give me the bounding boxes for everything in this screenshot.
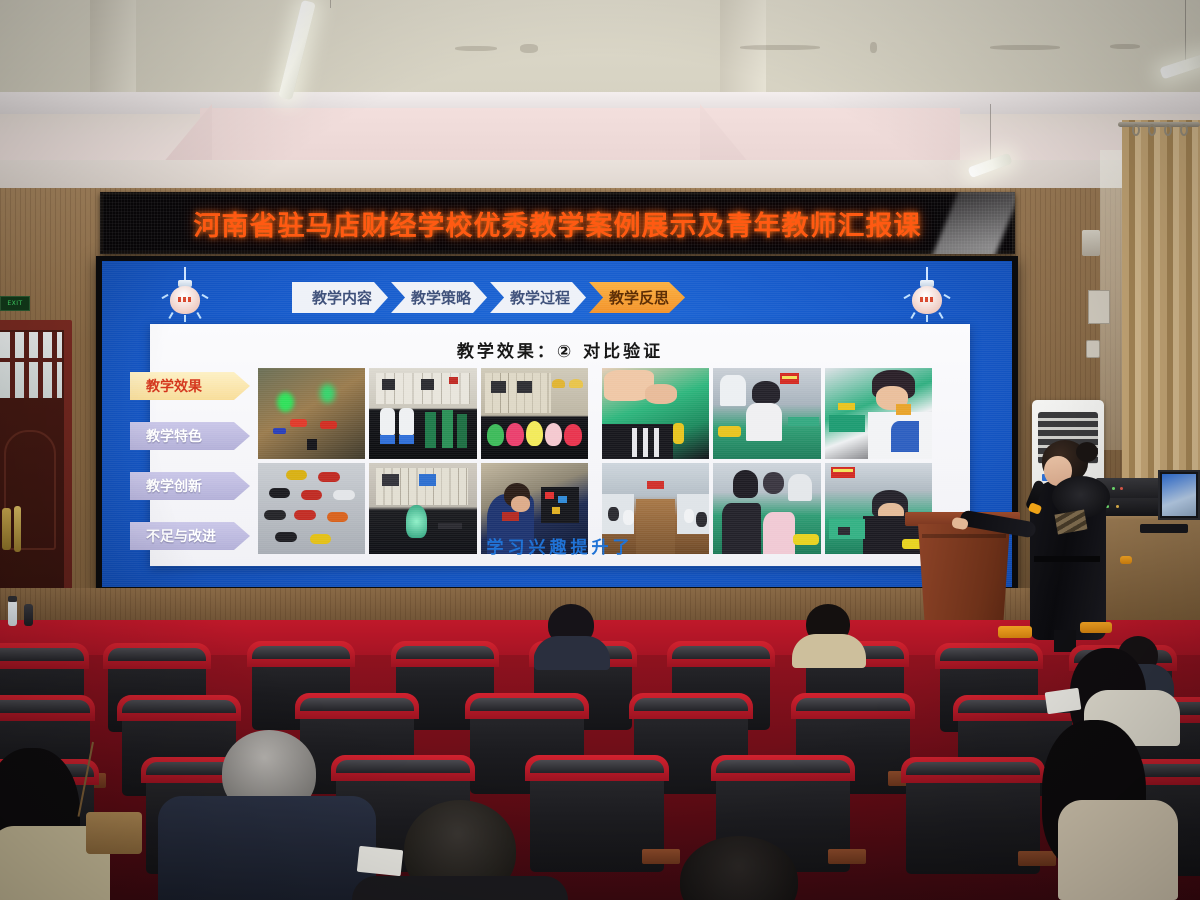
ceiling-rib	[90, 0, 136, 98]
door-handle[interactable]	[2, 508, 11, 550]
presenter-belt	[1034, 556, 1100, 562]
seat[interactable]	[906, 762, 1040, 874]
slide-sidebar: 教学效果 教学特色 教学创新 不足与改进	[130, 372, 250, 572]
lightbulb-icon	[902, 267, 952, 323]
tab-jiaoxue-guocheng[interactable]: 教学过程	[490, 282, 586, 313]
classroom-project-photos	[258, 368, 588, 554]
lightbulb-icon	[160, 267, 210, 323]
wall-speaker	[1082, 230, 1100, 256]
door-handle[interactable]	[14, 506, 21, 552]
photo-student-at-green-bench	[825, 368, 932, 459]
tab-jiaoxue-fansi[interactable]: 教学反思	[589, 282, 685, 313]
door-panel	[4, 430, 56, 550]
auditorium-scene: EXIT 河南省驻马店财经学校优秀教学案例展示及青年教师汇报课 教学内容	[0, 0, 1200, 900]
door-grille-bar	[10, 332, 15, 398]
slide-content-card: 教学效果：② 对比验证	[150, 324, 970, 566]
workshop-practice-photos	[602, 368, 932, 554]
presenter-hair-bun	[1076, 442, 1098, 462]
desk-keyboard[interactable]	[1140, 524, 1188, 533]
slide-nav-tabs: 教学内容 教学策略 教学过程 教学反思	[292, 282, 685, 313]
seat[interactable]	[530, 760, 664, 872]
sidebar-item-jiaoxue-xiaoguo[interactable]: 教学效果	[130, 372, 250, 400]
stage-prop-toy[interactable]	[1080, 622, 1112, 633]
photo-robots-control-panel	[369, 368, 476, 459]
presentation-slide: 教学内容 教学策略 教学过程 教学反思 教学效果：② 对比验证	[102, 261, 1012, 587]
sidebar-item-jiaoxue-tese[interactable]: 教学特色	[130, 422, 250, 450]
exit-sign: EXIT	[0, 296, 30, 311]
photo-lamp-shades-panel	[481, 368, 588, 459]
stage-prop-clicker[interactable]	[998, 626, 1032, 638]
thermos-bottle[interactable]	[24, 604, 33, 626]
ceiling-beam-lower	[200, 108, 960, 166]
handout-paper	[1045, 688, 1082, 715]
door-grille-bar	[0, 358, 62, 362]
tab-jiaoxue-neirong[interactable]: 教学内容	[292, 282, 388, 313]
handheld-mic-spare[interactable]	[1120, 556, 1132, 564]
photo-toy-cars-circuit	[258, 368, 365, 459]
sidebar-item-jiaoxue-chuangxin[interactable]: 教学创新	[130, 472, 250, 500]
curtain-rod	[1118, 122, 1200, 127]
wall-outlet[interactable]	[1086, 340, 1100, 358]
control-desk-monitor	[1158, 470, 1200, 520]
led-banner-text: 河南省驻马店财经学校优秀教学案例展示及青年教师汇报课	[194, 204, 922, 243]
handbag	[86, 812, 142, 854]
photo-students-green-benches-row	[713, 368, 820, 459]
wall-control-panel	[1088, 290, 1110, 324]
sidebar-item-buzu-yu-gaijin[interactable]: 不足与改进	[130, 522, 250, 550]
water-bottle[interactable]	[8, 600, 17, 626]
light-wire	[990, 104, 991, 164]
led-banner: 河南省驻马店财经学校优秀教学案例展示及青年教师汇报课	[100, 192, 1015, 254]
bottle-cap	[8, 596, 17, 602]
slide-caption: 学习兴趣提升了	[150, 533, 970, 558]
tab-jiaoxue-celue[interactable]: 教学策略	[391, 282, 487, 313]
light-wire	[1185, 0, 1186, 60]
door-grille-bar	[52, 332, 57, 398]
wooden-lectern	[918, 524, 1010, 620]
teacher-presenting	[1012, 440, 1120, 640]
ceiling	[0, 0, 1200, 190]
handout-paper	[357, 846, 403, 876]
light-wire	[330, 0, 331, 8]
slide-title: 教学效果：② 对比验证	[150, 337, 970, 362]
photo-hands-soldering-green-mat	[602, 368, 709, 459]
lectern-trim	[922, 534, 1006, 538]
monitor-screen	[1162, 474, 1196, 516]
door-grille-bar	[38, 332, 43, 398]
door-grille-bar	[24, 332, 29, 398]
exit-sign-label: EXIT	[7, 300, 22, 307]
